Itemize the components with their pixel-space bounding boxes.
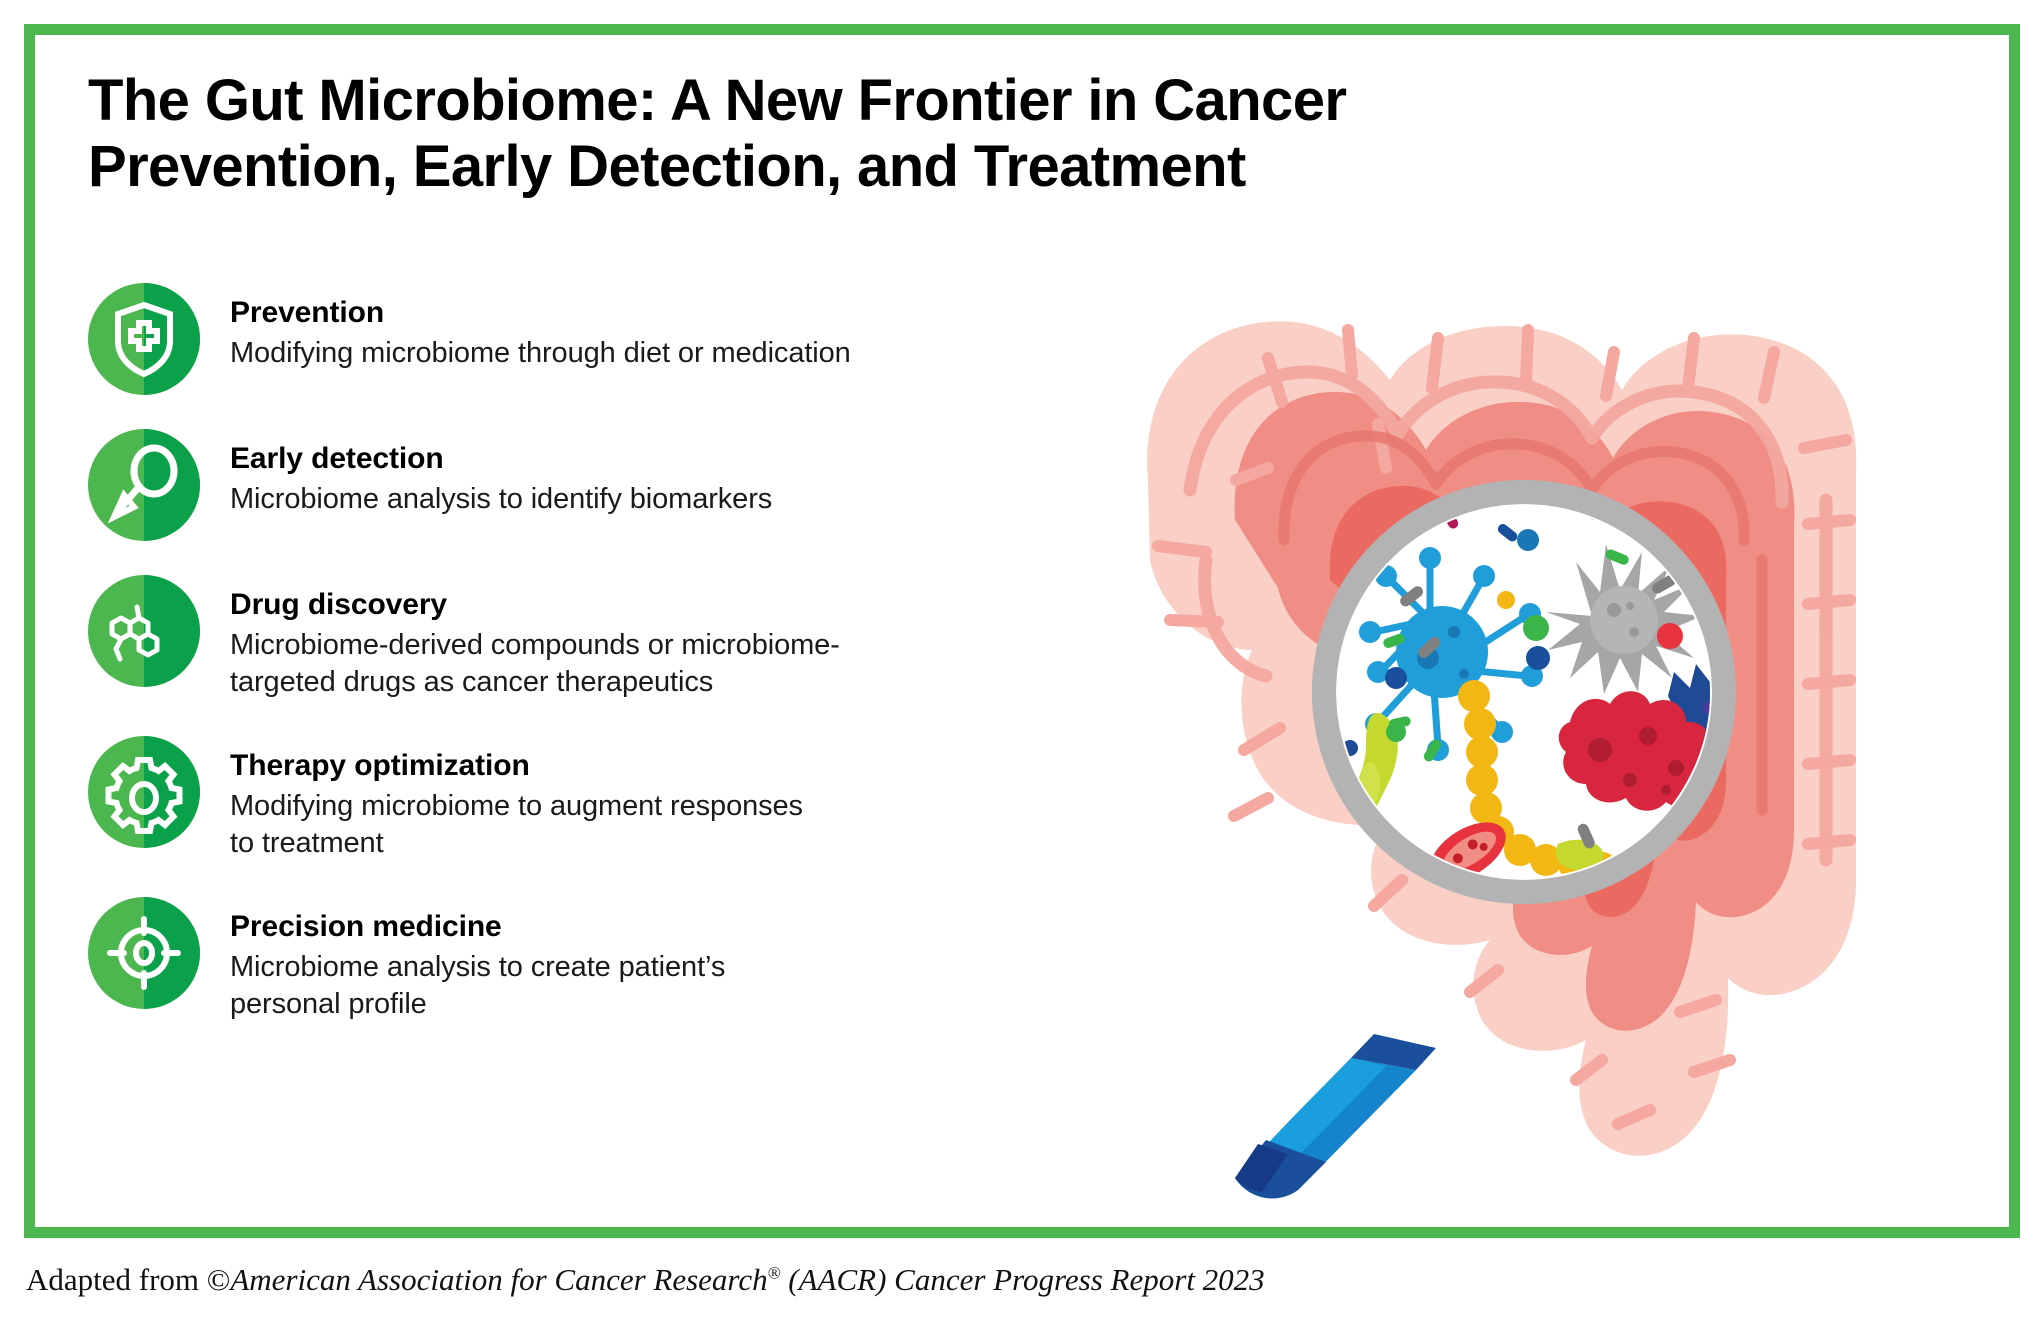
list-item: Drug discovery Microbiome-derived compou… [88, 575, 1078, 702]
registered-trademark-icon: ® [768, 1264, 781, 1283]
attribution-report: (AACR) Cancer Progress Report 2023 [781, 1262, 1265, 1297]
list-item-description: Microbiome-derived compounds or microbio… [230, 627, 840, 702]
list-item: Early detection Microbiome analysis to i… [88, 429, 1078, 541]
shield-cross-icon [88, 283, 200, 395]
feature-list: Prevention Modifying microbiome through … [88, 283, 1078, 1024]
magnifier-icon [88, 429, 200, 541]
source-attribution: Adapted from ©American Association for C… [26, 1262, 1986, 1298]
large-intestine-with-magnifier-illustration [1030, 180, 1950, 1200]
infographic-page: The Gut Microbiome: A New Frontier in Ca… [0, 0, 2044, 1331]
list-item-text: Drug discovery Microbiome-derived compou… [230, 575, 840, 702]
gear-icon [88, 736, 200, 848]
list-item-heading: Therapy optimization [230, 748, 803, 785]
list-item-heading: Precision medicine [230, 909, 725, 946]
list-item-heading: Prevention [230, 295, 851, 332]
list-item-description: Microbiome analysis to identify biomarke… [230, 481, 772, 519]
list-item-heading: Drug discovery [230, 587, 840, 624]
list-item-description: Modifying microbiome through diet or med… [230, 335, 851, 373]
list-item-description: Modifying microbiome to augment response… [230, 788, 803, 863]
list-item: Prevention Modifying microbiome through … [88, 283, 1078, 395]
list-item-text: Precision medicine Microbiome analysis t… [230, 897, 725, 1024]
molecule-icon [88, 575, 200, 687]
list-item-text: Early detection Microbiome analysis to i… [230, 429, 772, 518]
attribution-org: American Association for Cancer Research [230, 1262, 767, 1297]
list-item-text: Therapy optimization Modifying microbiom… [230, 736, 803, 863]
list-item: Precision medicine Microbiome analysis t… [88, 897, 1078, 1024]
list-item: Therapy optimization Modifying microbiom… [88, 736, 1078, 863]
magnifier-handle [1235, 1034, 1436, 1198]
crosshair-target-icon [88, 897, 200, 1009]
attribution-prefix: Adapted from © [26, 1262, 230, 1297]
page-title-line-1: The Gut Microbiome: A New Frontier in Ca… [88, 68, 1668, 134]
list-item-heading: Early detection [230, 441, 772, 478]
list-item-text: Prevention Modifying microbiome through … [230, 283, 851, 372]
list-item-description: Microbiome analysis to create patient’s … [230, 949, 725, 1024]
